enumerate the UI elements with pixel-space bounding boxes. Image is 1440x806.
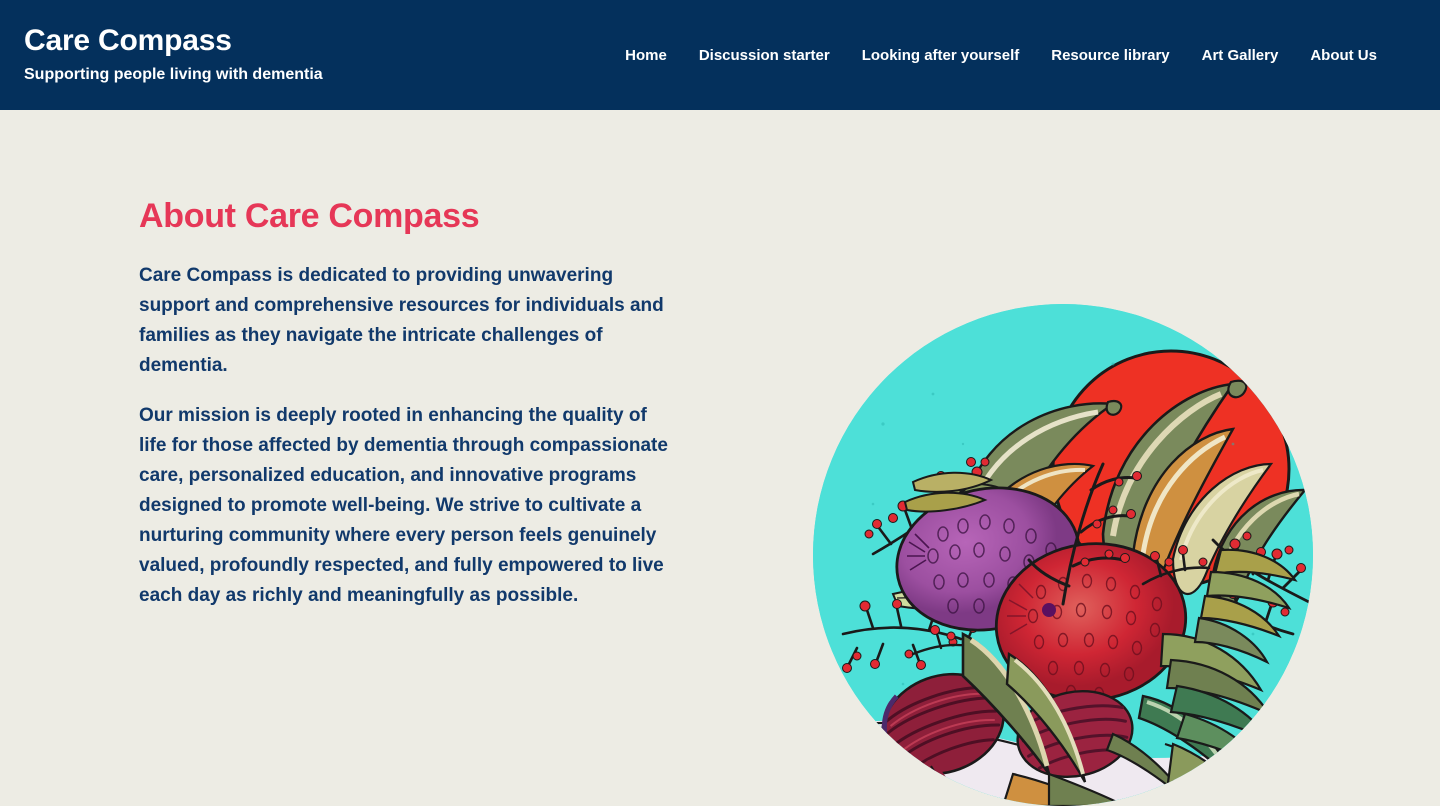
brand-tagline: Supporting people living with dementia bbox=[24, 65, 323, 86]
main-navigation: Home Discussion starter Looking after yo… bbox=[625, 47, 1377, 64]
nav-link-about-us[interactable]: About Us bbox=[1310, 47, 1377, 64]
brand[interactable]: Care Compass Supporting people living wi… bbox=[24, 24, 323, 85]
site-header: Care Compass Supporting people living wi… bbox=[0, 0, 1440, 110]
nav-link-resource-library[interactable]: Resource library bbox=[1051, 47, 1169, 64]
nav-link-discussion-starter[interactable]: Discussion starter bbox=[699, 47, 830, 64]
nav-link-home[interactable]: Home bbox=[625, 47, 667, 64]
about-paragraph-2: Our mission is deeply rooted in enhancin… bbox=[139, 401, 669, 611]
botanical-illustration-svg bbox=[813, 304, 1313, 806]
nav-link-looking-after-yourself[interactable]: Looking after yourself bbox=[862, 47, 1020, 64]
about-paragraph-1: Care Compass is dedicated to providing u… bbox=[139, 261, 669, 381]
botanical-artwork bbox=[813, 304, 1313, 806]
page-body: About Care Compass Care Compass is dedic… bbox=[0, 110, 1440, 754]
nav-link-art-gallery[interactable]: Art Gallery bbox=[1202, 47, 1279, 64]
about-section: About Care Compass Care Compass is dedic… bbox=[139, 198, 679, 611]
page-title: About Care Compass bbox=[139, 198, 679, 235]
brand-title: Care Compass bbox=[24, 24, 323, 58]
